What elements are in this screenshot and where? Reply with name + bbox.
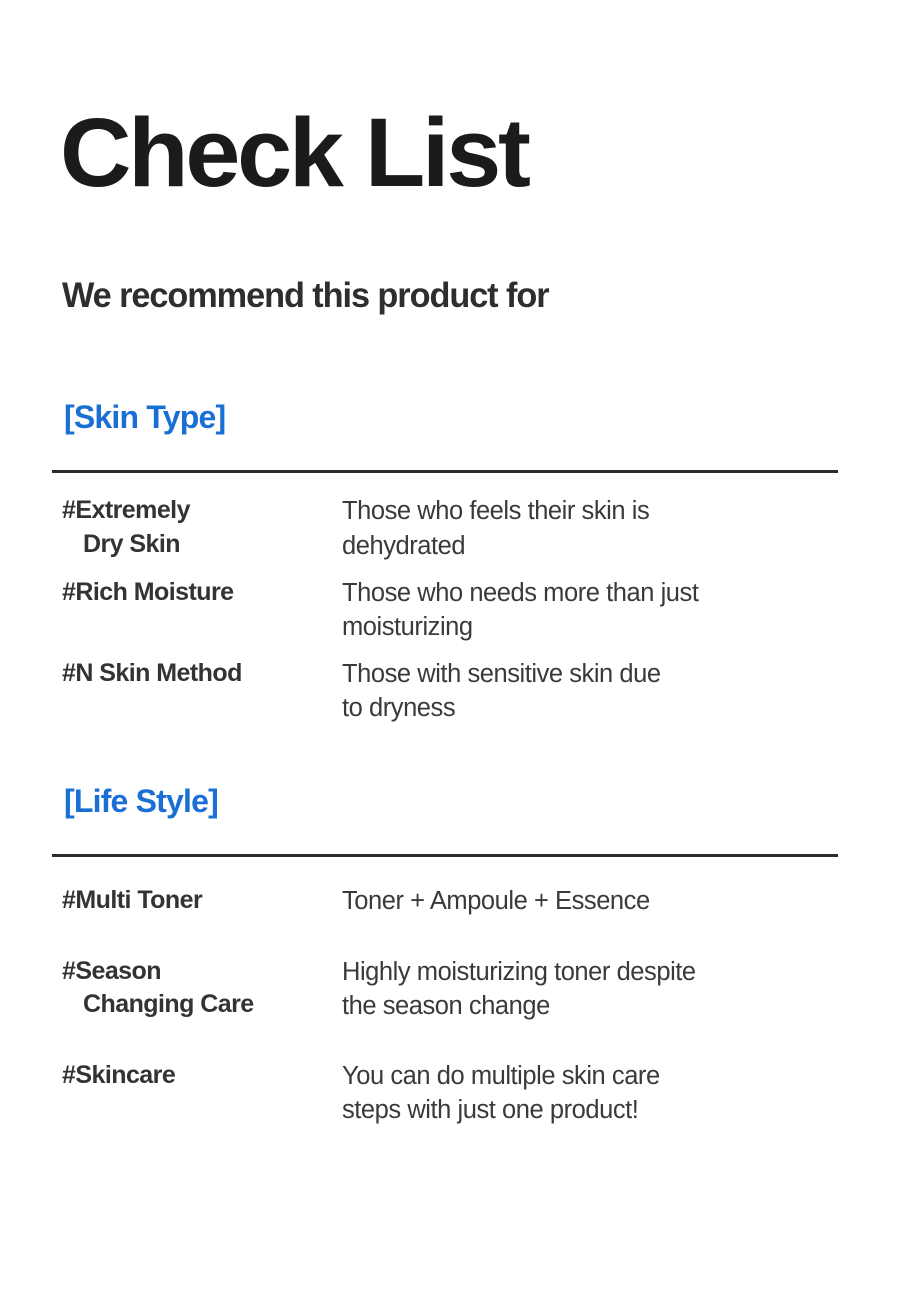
row-label-line2: Dry Skin	[62, 528, 180, 561]
section-heading-life-style: [Life Style]	[0, 782, 900, 820]
row-description: Those who feels their skin is dehydrated	[342, 494, 900, 562]
page-title: Check List	[60, 104, 528, 201]
row-label: #Multi Toner	[62, 884, 342, 917]
row-label-line2: Changing Care	[62, 988, 254, 1021]
table-row: #N Skin Method Those with sensitive skin…	[62, 657, 900, 725]
section-life-style: [Life Style] #Multi Toner Toner + Ampoul…	[0, 782, 900, 1127]
row-description: Those with sensitive skin due to dryness	[342, 657, 900, 725]
page-subtitle: We recommend this product for	[62, 277, 548, 316]
row-label: #Skincare	[62, 1059, 342, 1092]
section-heading-skin-type: [Skin Type]	[0, 398, 900, 436]
row-label: #SeasonChanging Care	[62, 955, 342, 1022]
row-group-skin-type: #ExtremelyDry Skin Those who feels their…	[0, 473, 900, 725]
table-row: #Rich Moisture Those who needs more than…	[62, 576, 900, 644]
table-row: #ExtremelyDry Skin Those who feels their…	[62, 494, 900, 562]
row-label-line1: #Extremely	[62, 496, 190, 524]
row-label: #N Skin Method	[62, 657, 342, 690]
table-row: #SeasonChanging Care Highly moisturizing…	[62, 955, 900, 1023]
row-label-line1: #Season	[62, 957, 161, 985]
table-row: #Multi Toner Toner + Ampoule + Essence	[62, 884, 900, 918]
row-description: Toner + Ampoule + Essence	[342, 884, 900, 918]
row-label: #Rich Moisture	[62, 576, 342, 609]
row-description: Highly moisturizing toner despite the se…	[342, 955, 900, 1023]
row-description: Those who needs more than just moisturiz…	[342, 576, 900, 644]
row-group-life-style: #Multi Toner Toner + Ampoule + Essence #…	[0, 857, 900, 1127]
section-skin-type: [Skin Type] #ExtremelyDry Skin Those who…	[0, 398, 900, 725]
table-row: #Skincare You can do multiple skin care …	[62, 1059, 900, 1127]
row-label: #ExtremelyDry Skin	[62, 494, 342, 561]
checklist-page: Check List We recommend this product for…	[0, 0, 900, 1300]
row-description: You can do multiple skin care steps with…	[342, 1059, 900, 1127]
